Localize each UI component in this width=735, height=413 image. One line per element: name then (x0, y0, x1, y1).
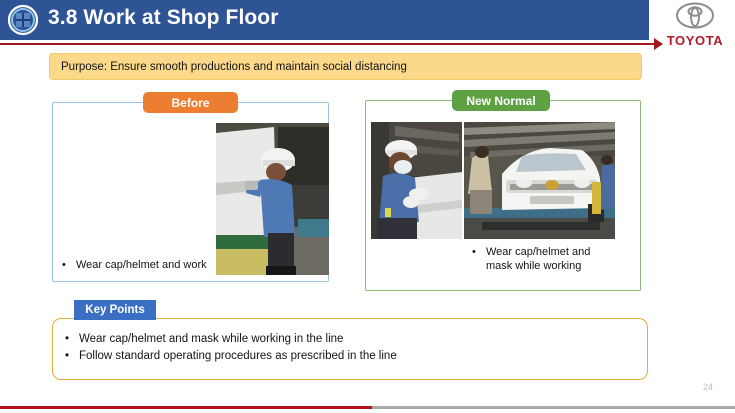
bullet-marker-icon: • (65, 331, 79, 348)
list-item: • Follow standard operating procedures a… (65, 348, 625, 365)
slide-canvas: 3.8 Work at Shop Floor TOYOTA Purpose: E… (0, 0, 735, 413)
bullet-marker-icon: • (62, 258, 76, 272)
toyota-wordmark: TOYOTA (659, 33, 731, 48)
photo-new-normal-worker-masked (371, 122, 462, 239)
footer-accent-left (0, 406, 372, 409)
purpose-banner: Purpose: Ensure smooth productions and m… (49, 53, 642, 80)
bullet-text: Wear cap/helmet and mask while working (486, 245, 618, 273)
key-points-list: • Wear cap/helmet and mask while working… (65, 331, 625, 365)
page-number: 24 (703, 382, 713, 392)
toyota-logo: TOYOTA (659, 2, 731, 48)
photo-new-normal-assembly-line (464, 122, 615, 239)
bullet-text: Wear cap/helmet and work (76, 258, 217, 272)
badge-new-normal: New Normal (452, 90, 550, 111)
bullet-text: Wear cap/helmet and mask while working i… (79, 331, 625, 348)
photo-before-worker (216, 123, 329, 275)
toyota-ellipse-logo-icon (659, 2, 731, 34)
footer-accent-right (372, 406, 735, 409)
badge-before: Before (143, 92, 238, 113)
list-item: • Wear cap/helmet and mask while working… (65, 331, 625, 348)
bullet-marker-icon: • (472, 245, 486, 273)
header-underline-rule (0, 43, 660, 45)
bullet-text: Follow standard operating procedures as … (79, 348, 625, 365)
badge-key-points: Key Points (74, 300, 156, 320)
list-item: • Wear cap/helmet and work (62, 258, 217, 272)
list-item: • Wear cap/helmet and mask while working (472, 245, 618, 273)
page-title: 3.8 Work at Shop Floor (48, 6, 279, 30)
bullet-marker-icon: • (65, 348, 79, 365)
purpose-text: Purpose: Ensure smooth productions and m… (50, 61, 407, 73)
window-grid-icon (7, 4, 39, 36)
